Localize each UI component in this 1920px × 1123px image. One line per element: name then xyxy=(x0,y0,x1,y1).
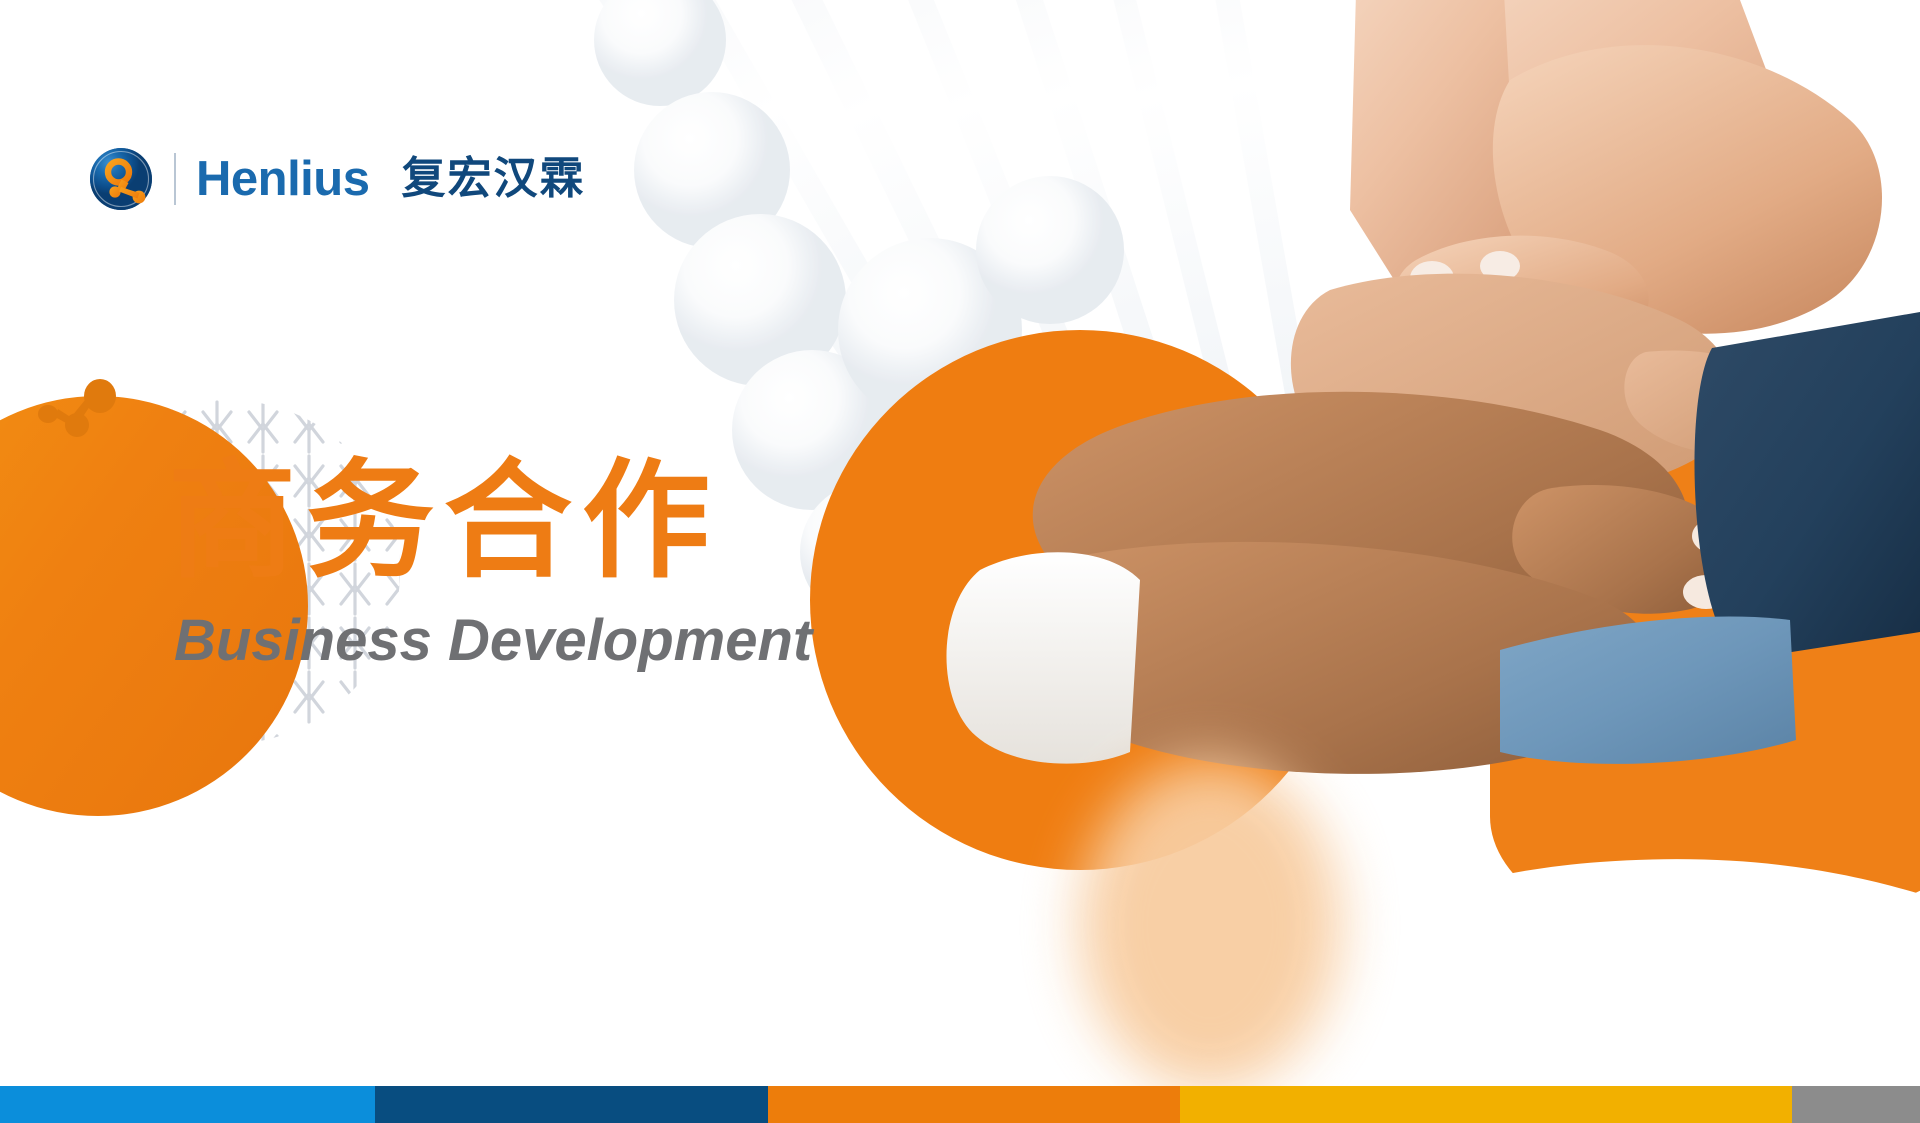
page-title-cn: 商务合作 xyxy=(168,455,812,589)
peach-blur-blob xyxy=(1080,760,1340,1090)
bar-segment-navy-blue xyxy=(375,1086,768,1123)
headline-block: 商务合作 Business Development xyxy=(168,455,812,672)
slide-canvas: Henlius 复宏汉霖 商务合作 Business Development xyxy=(0,0,1920,1123)
bar-segment-amber xyxy=(1180,1086,1792,1123)
molecule-dot-icon xyxy=(38,378,122,448)
logo-mark-svg xyxy=(90,148,152,210)
logo-wordmark: Henlius xyxy=(196,155,369,204)
molecule-dot-svg xyxy=(38,378,122,448)
bar-segment-light-blue xyxy=(0,1086,375,1123)
logo-chinese-name: 复宏汉霖 xyxy=(401,157,585,201)
bar-segment-orange xyxy=(768,1086,1180,1123)
stacked-hands-teamwork-photo xyxy=(810,0,1920,890)
henlius-logo[interactable]: Henlius 复宏汉霖 xyxy=(90,148,585,210)
page-subtitle-en: Business Development xyxy=(174,611,812,672)
henlius-molecule-mark-icon xyxy=(90,148,152,210)
bottom-color-bar xyxy=(0,1086,1920,1123)
hands-svg xyxy=(810,0,1920,890)
logo-divider xyxy=(174,153,176,205)
bar-segment-grey xyxy=(1792,1086,1920,1123)
